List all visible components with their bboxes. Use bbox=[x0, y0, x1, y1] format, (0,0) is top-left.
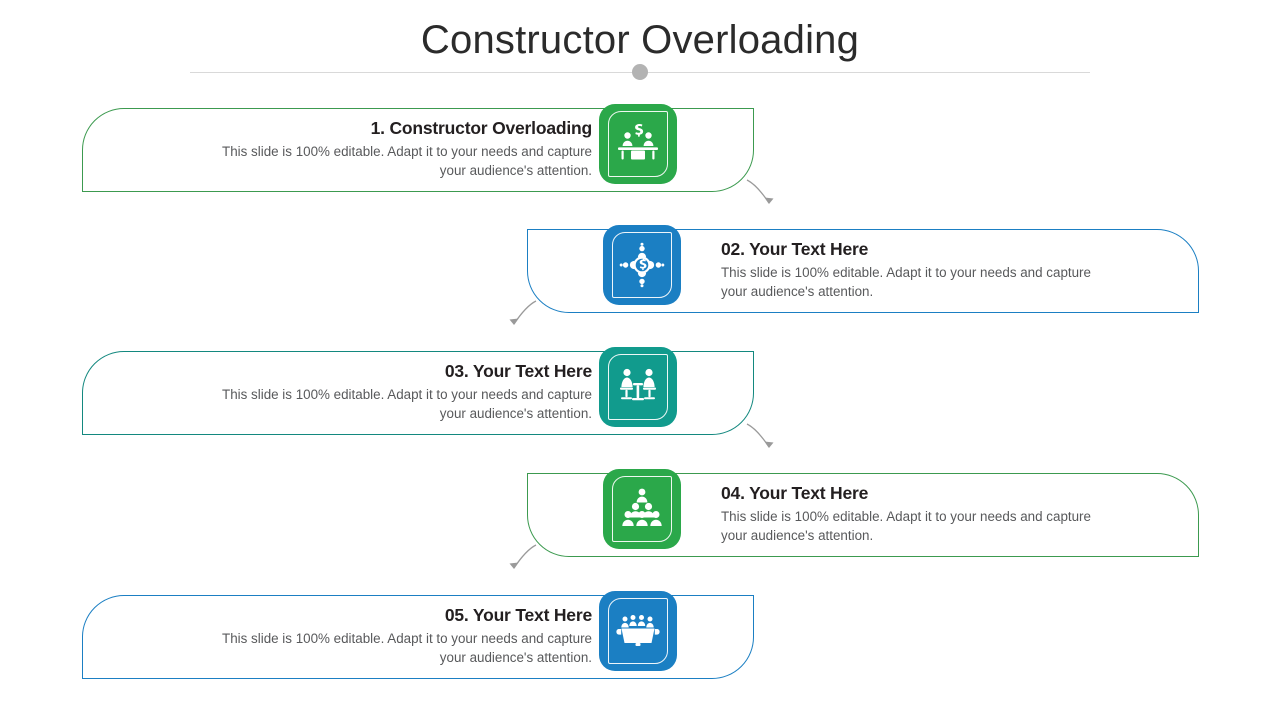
title-divider-dot bbox=[632, 64, 648, 80]
row-heading: 02. Your Text Here bbox=[721, 239, 1103, 260]
list-item[interactable]: 1. Constructor Overloading This slide is… bbox=[82, 108, 754, 192]
list-item[interactable]: 05. Your Text Here This slide is 100% ed… bbox=[82, 595, 754, 679]
row-heading: 1. Constructor Overloading bbox=[210, 118, 592, 139]
two-people-meeting-icon bbox=[614, 363, 662, 411]
row-textblock: 04. Your Text Here This slide is 100% ed… bbox=[721, 483, 1103, 545]
row-heading: 05. Your Text Here bbox=[210, 605, 592, 626]
row-icon-tile[interactable] bbox=[599, 591, 677, 671]
row-heading: 03. Your Text Here bbox=[210, 361, 592, 382]
slide-canvas: Constructor Overloading 1. Constructor O… bbox=[0, 0, 1280, 720]
row-body: This slide is 100% editable. Adapt it to… bbox=[721, 264, 1103, 301]
list-item[interactable]: 03. Your Text Here This slide is 100% ed… bbox=[82, 351, 754, 435]
row-textblock: 03. Your Text Here This slide is 100% ed… bbox=[210, 361, 592, 423]
conference-table-team-icon bbox=[614, 607, 662, 655]
row-body: This slide is 100% editable. Adapt it to… bbox=[210, 630, 592, 667]
page-title: Constructor Overloading bbox=[0, 18, 1280, 63]
row-textblock: 02. Your Text Here This slide is 100% ed… bbox=[721, 239, 1103, 301]
row-icon-tile[interactable] bbox=[599, 347, 677, 427]
list-item[interactable]: 04. Your Text Here This slide is 100% ed… bbox=[527, 473, 1199, 557]
list-item[interactable]: 02. Your Text Here This slide is 100% ed… bbox=[527, 229, 1199, 313]
row-icon-tile[interactable] bbox=[599, 104, 677, 184]
org-hierarchy-people-icon bbox=[618, 485, 666, 533]
row-body: This slide is 100% editable. Adapt it to… bbox=[210, 386, 592, 423]
row-textblock: 1. Constructor Overloading This slide is… bbox=[210, 118, 592, 180]
row-textblock: 05. Your Text Here This slide is 100% ed… bbox=[210, 605, 592, 667]
row-icon-tile[interactable] bbox=[603, 469, 681, 549]
dollar-network-people-icon bbox=[618, 241, 666, 289]
row-icon-tile[interactable] bbox=[603, 225, 681, 305]
row-body: This slide is 100% editable. Adapt it to… bbox=[721, 508, 1103, 545]
row-heading: 04. Your Text Here bbox=[721, 483, 1103, 504]
row-body: This slide is 100% editable. Adapt it to… bbox=[210, 143, 592, 180]
people-table-dollar-icon bbox=[614, 120, 662, 168]
